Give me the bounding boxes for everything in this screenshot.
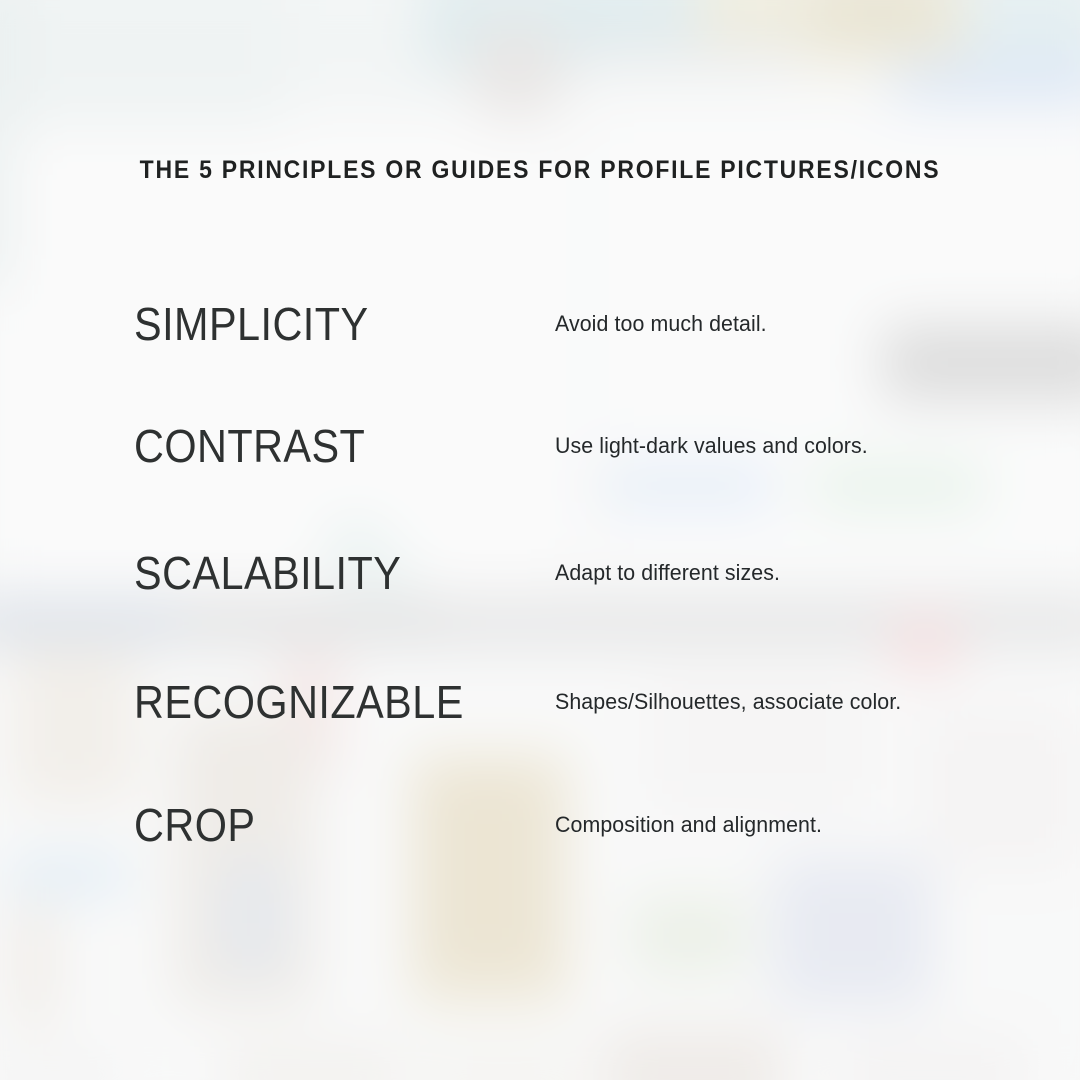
- infographic-slide: THE 5 PRINCIPLES OR GUIDES FOR PROFILE P…: [0, 0, 1080, 1080]
- principle-description: Shapes/Silhouettes, associate color.: [555, 674, 901, 730]
- infographic-content: THE 5 PRINCIPLES OR GUIDES FOR PROFILE P…: [0, 0, 1080, 1080]
- principle-row-contrast: CONTRAST Use light-dark values and color…: [0, 418, 1080, 474]
- principle-term: SCALABILITY: [134, 545, 401, 601]
- principle-term: SIMPLICITY: [134, 296, 369, 352]
- principle-description: Adapt to different sizes.: [555, 545, 780, 601]
- principle-description: Composition and alignment.: [555, 797, 822, 853]
- principle-description: Avoid too much detail.: [555, 296, 767, 352]
- principle-row-simplicity: SIMPLICITY Avoid too much detail.: [0, 296, 1080, 352]
- principle-term: CONTRAST: [134, 418, 365, 474]
- principle-row-crop: CROP Composition and alignment.: [0, 797, 1080, 853]
- principle-row-scalability: SCALABILITY Adapt to different sizes.: [0, 545, 1080, 601]
- principle-row-recognizable: RECOGNIZABLE Shapes/Silhouettes, associa…: [0, 674, 1080, 730]
- principle-term: CROP: [134, 797, 255, 853]
- principle-description: Use light-dark values and colors.: [555, 418, 868, 474]
- principle-term: RECOGNIZABLE: [134, 674, 464, 730]
- page-title: THE 5 PRINCIPLES OR GUIDES FOR PROFILE P…: [43, 156, 1037, 185]
